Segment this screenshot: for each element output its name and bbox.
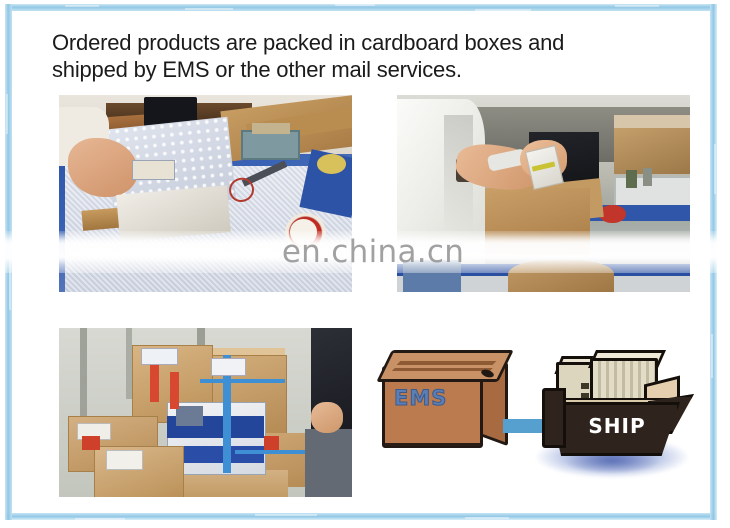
photo-labeling-parcel [397, 95, 690, 292]
border-texture [9, 254, 11, 310]
border-texture [65, 5, 99, 7]
ship-stern [542, 388, 566, 448]
photo-stacked-boxes [59, 328, 352, 497]
promo-banner: Ordered products are packed in cardboard… [0, 0, 730, 528]
border-bottom [5, 513, 717, 520]
border-texture [465, 517, 509, 519]
border-texture [6, 94, 8, 134]
ems-box-illustration: EMS [382, 350, 502, 442]
photo-packing-bubble-wrap [59, 95, 352, 292]
border-texture [335, 4, 375, 6]
ems-box-top [376, 350, 514, 382]
border-texture [185, 8, 233, 10]
ship-illustration: SHIP [540, 354, 688, 484]
border-texture [714, 144, 716, 194]
ship-cargo-a-slot1 [581, 383, 589, 389]
ems-box-bottom-line [385, 443, 480, 446]
border-texture [75, 518, 125, 520]
border-top [5, 4, 717, 11]
ems-box-tape [397, 361, 497, 365]
border-texture [475, 9, 531, 11]
page-title: Ordered products are packed in cardboard… [52, 29, 672, 83]
ship-label: SHIP [582, 414, 652, 438]
ems-box-tape2 [392, 368, 493, 371]
border-texture [615, 5, 659, 7]
border-texture [711, 334, 713, 378]
shipping-illustration: EMS SHIP [372, 332, 692, 504]
border-right [710, 4, 717, 520]
ems-box-label: EMS [394, 386, 470, 410]
border-left [5, 4, 12, 520]
border-texture [255, 514, 317, 516]
